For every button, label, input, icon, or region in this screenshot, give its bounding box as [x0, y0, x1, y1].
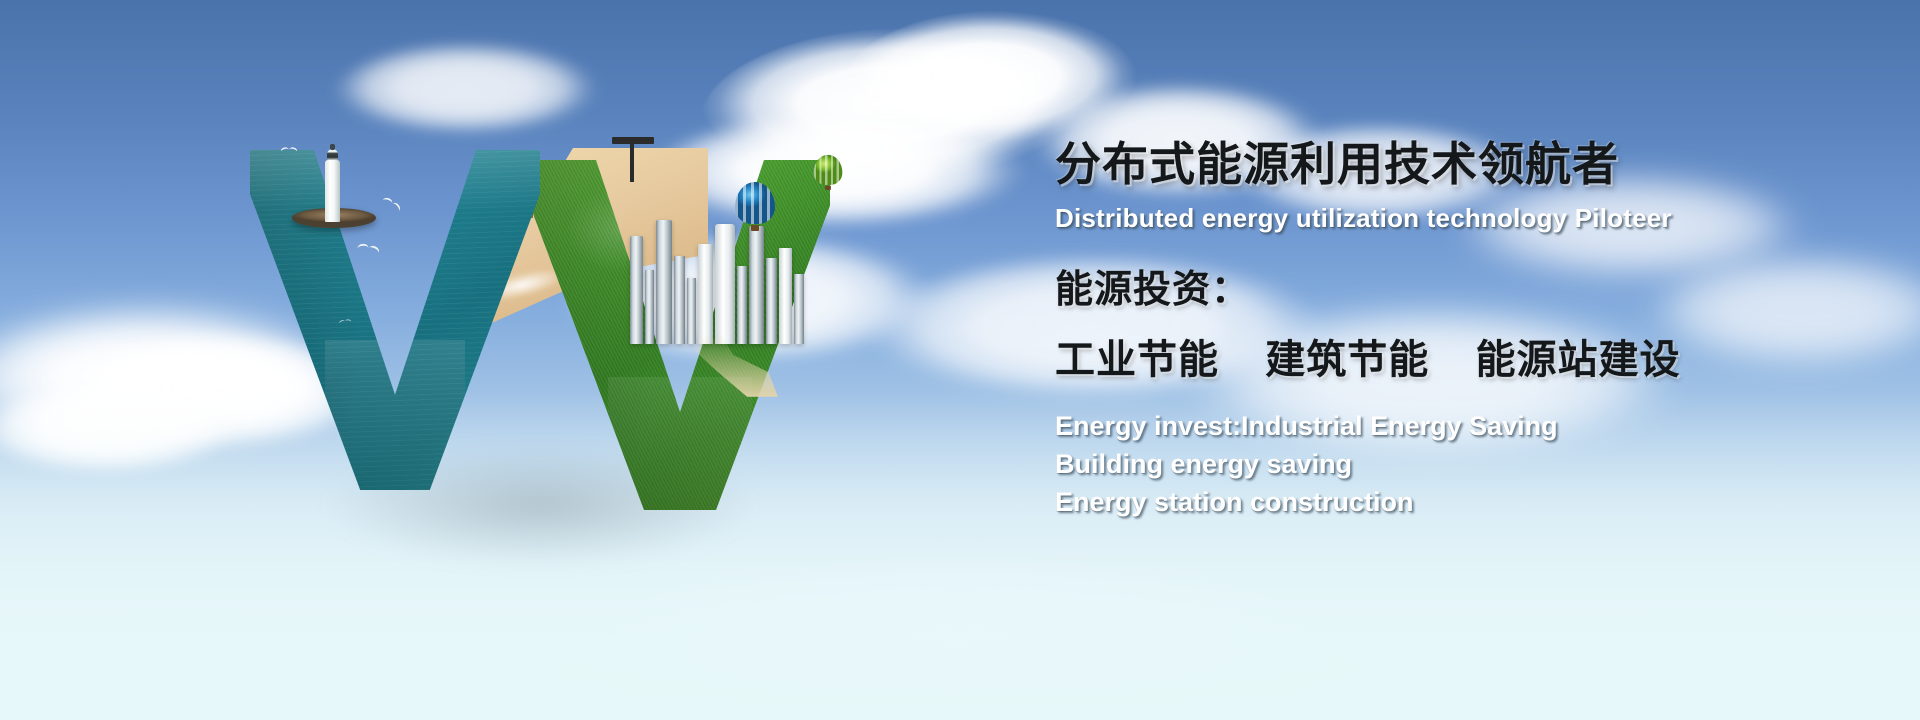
service-item-industrial-cn: 工业节能 — [1055, 338, 1219, 382]
service-list-chinese: 工业节能 建筑节能 能源站建设 — [1055, 327, 1815, 385]
service-item-building-cn: 建筑节能 — [1265, 338, 1429, 382]
service-list-english: Energy invest:Industrial Energy Saving B… — [1055, 407, 1815, 522]
service-item-building-en: Building energy saving — [1055, 445, 1815, 483]
service-item-station-en: Energy station construction — [1055, 483, 1815, 521]
seagull-icon — [383, 194, 404, 212]
lead-label-chinese: 能源投资： — [1055, 258, 1815, 313]
city-skyline — [628, 212, 808, 344]
hot-air-balloon-icon — [814, 155, 843, 190]
ww-letter-artwork — [230, 120, 850, 550]
balloon-envelope — [814, 155, 843, 185]
hot-air-balloon-icon — [735, 182, 775, 230]
building — [687, 278, 696, 344]
seagull-icon — [281, 145, 298, 152]
headline-chinese: 分布式能源利用技术领航者 — [1055, 140, 1815, 189]
building — [794, 274, 804, 344]
balloon-basket — [825, 186, 831, 190]
building — [737, 266, 747, 344]
subtitle-english: Distributed energy utilization technolog… — [1055, 203, 1815, 234]
service-item-industrial-en: Energy invest:Industrial Energy Saving — [1055, 407, 1815, 445]
building — [766, 258, 777, 344]
building — [698, 244, 713, 344]
artwork-ground-shadow — [240, 420, 840, 590]
building — [656, 220, 672, 344]
balloon-basket — [751, 225, 759, 231]
lighthouse-icon — [325, 160, 340, 222]
hero-banner: 分布式能源利用技术领航者 Distributed energy utilizat… — [0, 0, 1920, 720]
banner-copy: 分布式能源利用技术领航者 Distributed energy utilizat… — [1055, 140, 1815, 522]
building — [645, 270, 654, 344]
building — [779, 248, 792, 344]
balloon-envelope — [735, 182, 775, 224]
utility-pole-icon — [630, 142, 634, 182]
seagull-icon — [357, 240, 380, 253]
building — [715, 224, 735, 344]
service-item-station-cn: 能源站建设 — [1476, 338, 1681, 382]
building — [674, 256, 685, 344]
building — [630, 236, 643, 344]
seagull-icon — [339, 317, 352, 324]
building — [749, 226, 764, 344]
